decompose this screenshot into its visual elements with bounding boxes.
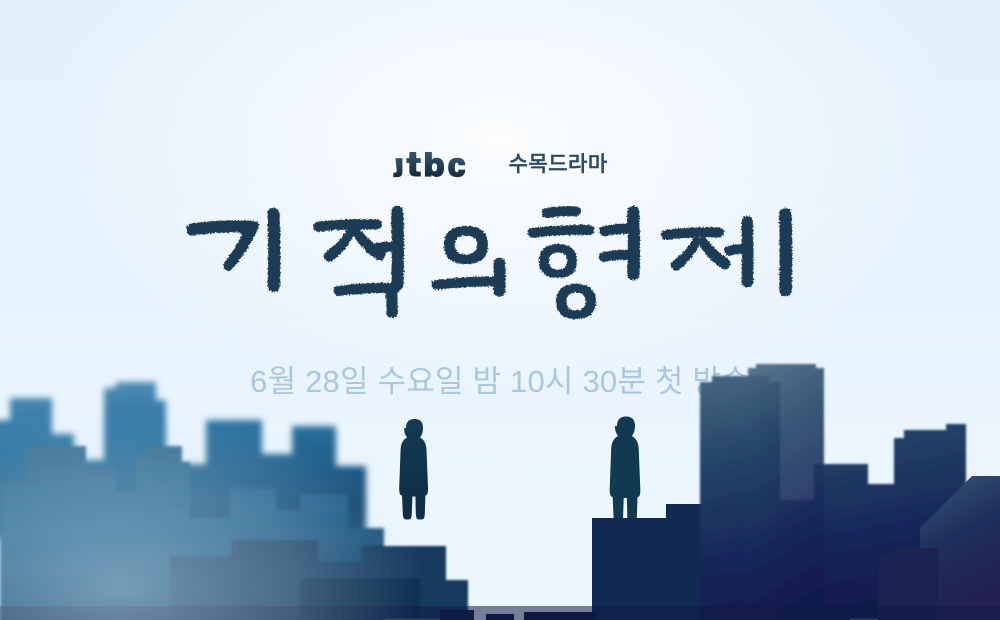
- drama-poster: 수목드라마: [0, 0, 1000, 620]
- figure-right: [610, 417, 641, 523]
- cityscape-svg: [0, 360, 1000, 620]
- title-wrap: [0, 200, 1000, 330]
- cityscape: [0, 360, 1000, 620]
- brand-row: 수목드라마: [0, 152, 1000, 178]
- jtbc-logo: [392, 152, 494, 178]
- drama-title: [180, 200, 820, 325]
- network-slot-label: 수목드라마: [509, 154, 608, 176]
- ground-band: [0, 606, 1000, 620]
- figure-left: [399, 419, 428, 520]
